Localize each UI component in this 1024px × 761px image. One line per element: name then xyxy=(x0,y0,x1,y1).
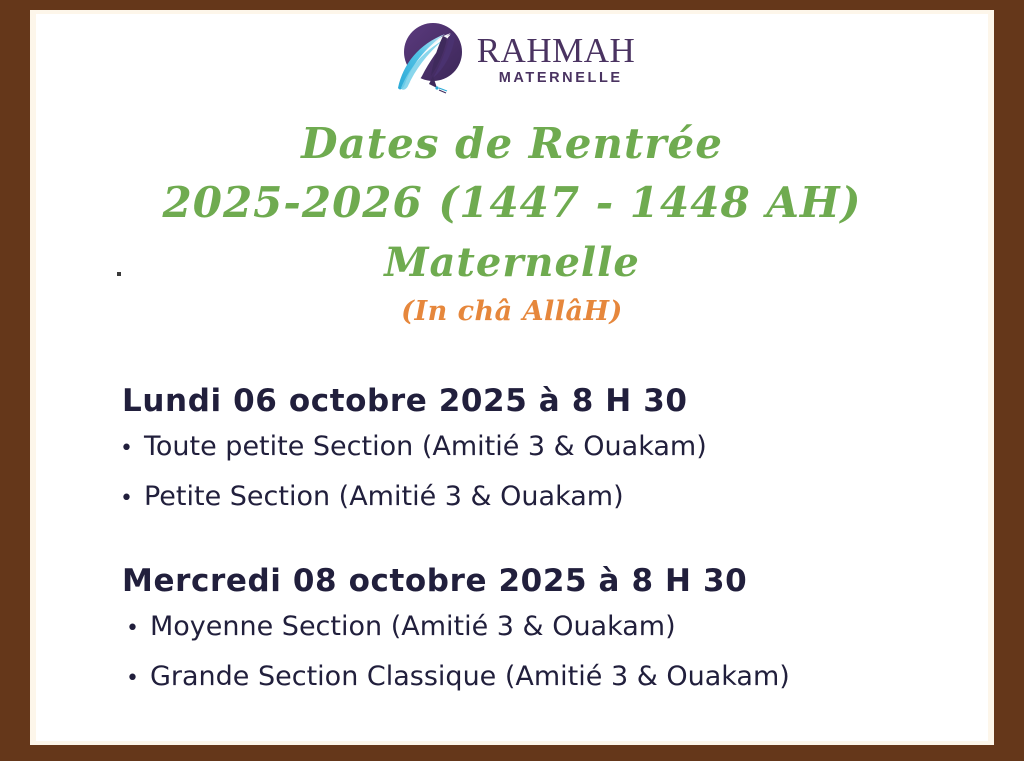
school-logo: RAHMAH MATERNELLE xyxy=(36,16,988,100)
schedule-group: Lundi 06 octobre 2025 à 8 H 30 • Toute p… xyxy=(36,380,988,522)
schedule-list: Lundi 06 octobre 2025 à 8 H 30 • Toute p… xyxy=(36,380,988,702)
brand-subtitle: MATERNELLE xyxy=(499,70,623,86)
day-heading: Mercredi 08 octobre 2025 à 8 H 30 xyxy=(36,560,988,602)
poster-canvas: RAHMAH MATERNELLE Dates de Rentrée 2025-… xyxy=(36,14,988,741)
list-item: • Petite Section (Amitié 3 & Ouakam) xyxy=(36,472,988,522)
headline-line-1: Dates de Rentrée xyxy=(36,116,988,172)
headline-line-3: Maternelle xyxy=(36,234,988,292)
bullet-icon: • xyxy=(120,438,133,460)
list-item-label: Petite Section (Amitié 3 & Ouakam) xyxy=(144,472,624,522)
list-item-label: Moyenne Section (Amitié 3 & Ouakam) xyxy=(150,602,676,652)
list-item: • Moyenne Section (Amitié 3 & Ouakam) xyxy=(36,602,988,652)
group-spacer xyxy=(36,522,988,560)
poster-headline: Dates de Rentrée 2025-2026 (1447 - 1448 … xyxy=(36,116,988,332)
brand-name: RAHMAH xyxy=(477,34,636,68)
rahmah-feather-circle-icon xyxy=(389,18,471,98)
list-item-label: Grande Section Classique (Amitié 3 & Oua… xyxy=(150,652,790,702)
list-item-label: Toute petite Section (Amitié 3 & Ouakam) xyxy=(144,422,707,472)
list-item: • Grande Section Classique (Amitié 3 & O… xyxy=(36,652,988,702)
logo-wordmark: RAHMAH MATERNELLE xyxy=(477,30,636,85)
headline-line-2: 2025-2026 (1447 - 1448 AH) xyxy=(36,172,988,234)
list-item: • Toute petite Section (Amitié 3 & Ouaka… xyxy=(36,422,988,472)
headline-line-4: (In châ AllâH) xyxy=(36,292,988,332)
schedule-group: Mercredi 08 octobre 2025 à 8 H 30 • Moye… xyxy=(36,560,988,702)
day-heading: Lundi 06 octobre 2025 à 8 H 30 xyxy=(36,380,988,422)
poster-frame: RAHMAH MATERNELLE Dates de Rentrée 2025-… xyxy=(0,0,1024,761)
bullet-icon: • xyxy=(126,668,139,690)
bullet-icon: • xyxy=(120,488,133,510)
poster-matte: RAHMAH MATERNELLE Dates de Rentrée 2025-… xyxy=(30,10,994,745)
bullet-icon: • xyxy=(126,618,139,640)
